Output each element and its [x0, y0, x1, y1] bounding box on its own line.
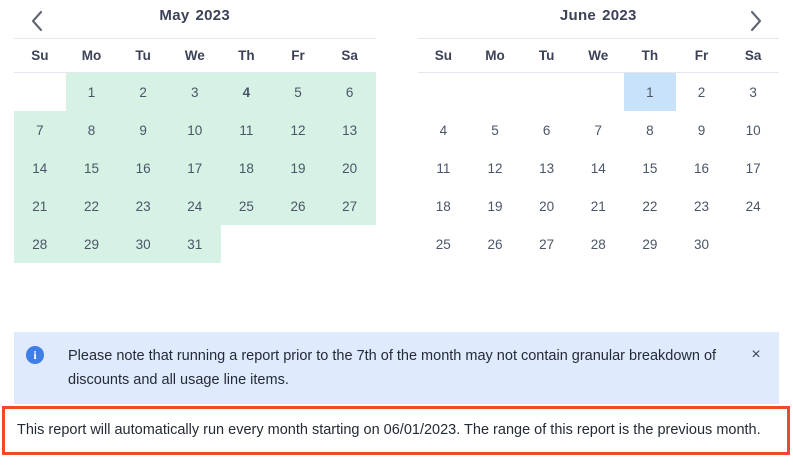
calendar-body-right: 1234567891011121314151617181920212223242…	[418, 73, 780, 264]
calendar-grid-right: SuMoTuWeThFrSa 1234567891011121314151617…	[418, 38, 780, 263]
calendar-day-june-3[interactable]: 3	[727, 73, 779, 112]
calendar-day-june-19[interactable]: 19	[469, 187, 521, 225]
weekday-header-sa: Sa	[727, 39, 779, 73]
weekday-header-tu: Tu	[521, 39, 573, 73]
calendar-day-june-25[interactable]: 25	[418, 225, 470, 263]
schedule-note-message: This report will automatically run every…	[17, 422, 761, 438]
calendar-day-june-16[interactable]: 16	[676, 149, 728, 187]
calendar-day-may-31[interactable]: 31	[169, 225, 221, 263]
calendar-day-june-28[interactable]: 28	[572, 225, 624, 263]
calendar-day-empty	[521, 73, 573, 112]
month-title-right: June2023	[418, 0, 780, 38]
calendar-day-june-27[interactable]: 27	[521, 225, 573, 263]
month-year-right: 2023	[602, 7, 637, 24]
calendar-months: May2023 SuMoTuWeThFrSa 12345678910111213…	[0, 0, 793, 263]
calendar-day-may-8[interactable]: 8	[66, 111, 118, 149]
calendar-day-may-1[interactable]: 1	[66, 73, 118, 112]
date-range-picker: May2023 SuMoTuWeThFrSa 12345678910111213…	[0, 0, 793, 300]
calendar-day-empty	[324, 225, 376, 263]
calendar-day-may-22[interactable]: 22	[66, 187, 118, 225]
calendar-day-may-21[interactable]: 21	[14, 187, 66, 225]
schedule-note: This report will automatically run every…	[2, 406, 790, 455]
calendar-day-june-7[interactable]: 7	[572, 111, 624, 149]
calendar-day-may-10[interactable]: 10	[169, 111, 221, 149]
calendar-day-june-14[interactable]: 14	[572, 149, 624, 187]
weekday-header-we: We	[169, 39, 221, 73]
calendar-day-may-13[interactable]: 13	[324, 111, 376, 149]
calendar-day-may-26[interactable]: 26	[272, 187, 324, 225]
calendar-day-may-6[interactable]: 6	[324, 73, 376, 112]
calendar-day-may-20[interactable]: 20	[324, 149, 376, 187]
calendar-day-may-12[interactable]: 12	[272, 111, 324, 149]
chevron-right-icon	[748, 9, 764, 33]
weekday-header-fr: Fr	[272, 39, 324, 73]
calendar-day-may-28[interactable]: 28	[14, 225, 66, 263]
calendar-day-june-10[interactable]: 10	[727, 111, 779, 149]
weekday-header-su: Su	[14, 39, 66, 73]
prev-month-button[interactable]	[20, 4, 54, 38]
calendar-day-june-2[interactable]: 2	[676, 73, 728, 112]
calendar-day-may-30[interactable]: 30	[117, 225, 169, 263]
calendar-day-may-3[interactable]: 3	[169, 73, 221, 112]
calendar-week-row: 11121314151617	[418, 149, 780, 187]
calendar-day-june-18[interactable]: 18	[418, 187, 470, 225]
weekday-header-mo: Mo	[66, 39, 118, 73]
calendar-day-may-23[interactable]: 23	[117, 187, 169, 225]
calendar-day-may-9[interactable]: 9	[117, 111, 169, 149]
calendar-day-june-5[interactable]: 5	[469, 111, 521, 149]
calendar-week-row: 252627282930	[418, 225, 780, 263]
weekday-header-th: Th	[221, 39, 273, 73]
month-title-left: May2023	[14, 0, 376, 38]
calendar-day-june-6[interactable]: 6	[521, 111, 573, 149]
calendar-week-row: 14151617181920	[14, 149, 376, 187]
calendar-day-may-24[interactable]: 24	[169, 187, 221, 225]
weekday-header-fr: Fr	[676, 39, 728, 73]
calendar-day-june-30[interactable]: 30	[676, 225, 728, 263]
calendar-day-june-8[interactable]: 8	[624, 111, 676, 149]
calendar-day-empty	[572, 73, 624, 112]
calendar-week-row: 78910111213	[14, 111, 376, 149]
close-icon[interactable]: ×	[747, 346, 765, 364]
calendar-week-row: 18192021222324	[418, 187, 780, 225]
info-banner: i Please note that running a report prio…	[14, 332, 779, 404]
weekday-header-mo: Mo	[469, 39, 521, 73]
calendar-day-may-29[interactable]: 29	[66, 225, 118, 263]
weekday-header-row: SuMoTuWeThFrSa	[14, 39, 376, 73]
calendar-day-june-17[interactable]: 17	[727, 149, 779, 187]
calendar-day-june-15[interactable]: 15	[624, 149, 676, 187]
calendar-day-june-11[interactable]: 11	[418, 149, 470, 187]
calendar-day-june-26[interactable]: 26	[469, 225, 521, 263]
calendar-body-left: 1234567891011121314151617181920212223242…	[14, 73, 376, 264]
calendar-day-may-5[interactable]: 5	[272, 73, 324, 112]
weekday-header-su: Su	[418, 39, 470, 73]
calendar-day-may-17[interactable]: 17	[169, 149, 221, 187]
chevron-left-icon	[29, 9, 45, 33]
calendar-day-empty	[272, 225, 324, 263]
calendar-day-june-29[interactable]: 29	[624, 225, 676, 263]
calendar-day-may-16[interactable]: 16	[117, 149, 169, 187]
calendar-grid-left: SuMoTuWeThFrSa 1234567891011121314151617…	[14, 38, 376, 263]
info-banner-message: Please note that running a report prior …	[68, 344, 735, 392]
calendar-month-right: June2023 SuMoTuWeThFrSa 1234567891011121…	[418, 0, 780, 263]
calendar-day-may-14[interactable]: 14	[14, 149, 66, 187]
calendar-week-row: 28293031	[14, 225, 376, 263]
calendar-day-empty	[14, 73, 66, 112]
calendar-day-may-18[interactable]: 18	[221, 149, 273, 187]
calendar-day-may-25[interactable]: 25	[221, 187, 273, 225]
calendar-week-row: 123456	[14, 73, 376, 112]
calendar-day-may-2[interactable]: 2	[117, 73, 169, 112]
calendar-day-june-20[interactable]: 20	[521, 187, 573, 225]
calendar-day-june-1[interactable]: 1	[624, 73, 676, 112]
weekday-header-th: Th	[624, 39, 676, 73]
calendar-day-empty	[418, 73, 470, 112]
weekday-header-we: We	[572, 39, 624, 73]
calendar-day-june-22[interactable]: 22	[624, 187, 676, 225]
calendar-day-may-11[interactable]: 11	[221, 111, 273, 149]
next-month-button[interactable]	[739, 4, 773, 38]
info-icon: i	[26, 346, 44, 364]
calendar-day-may-27[interactable]: 27	[324, 187, 376, 225]
weekday-header-row: SuMoTuWeThFrSa	[418, 39, 780, 73]
calendar-day-may-19[interactable]: 19	[272, 149, 324, 187]
month-year-left: 2023	[196, 7, 231, 24]
calendar-day-may-4[interactable]: 4	[221, 73, 273, 112]
calendar-day-june-9[interactable]: 9	[676, 111, 728, 149]
weekday-header-tu: Tu	[117, 39, 169, 73]
calendar-day-may-15[interactable]: 15	[66, 149, 118, 187]
calendar-week-row: 45678910	[418, 111, 780, 149]
calendar-day-june-4[interactable]: 4	[418, 111, 470, 149]
calendar-day-empty	[469, 73, 521, 112]
weekday-header-sa: Sa	[324, 39, 376, 73]
calendar-day-june-24[interactable]: 24	[727, 187, 779, 225]
calendar-day-may-7[interactable]: 7	[14, 111, 66, 149]
calendar-day-june-21[interactable]: 21	[572, 187, 624, 225]
calendar-week-row: 123	[418, 73, 780, 112]
calendar-month-left: May2023 SuMoTuWeThFrSa 12345678910111213…	[14, 0, 376, 263]
calendar-day-june-23[interactable]: 23	[676, 187, 728, 225]
calendar-day-june-12[interactable]: 12	[469, 149, 521, 187]
calendar-day-empty	[727, 225, 779, 263]
month-name-right: June	[560, 7, 596, 24]
calendar-day-june-13[interactable]: 13	[521, 149, 573, 187]
calendar-week-row: 21222324252627	[14, 187, 376, 225]
month-name-left: May	[159, 7, 189, 24]
calendar-day-empty	[221, 225, 273, 263]
